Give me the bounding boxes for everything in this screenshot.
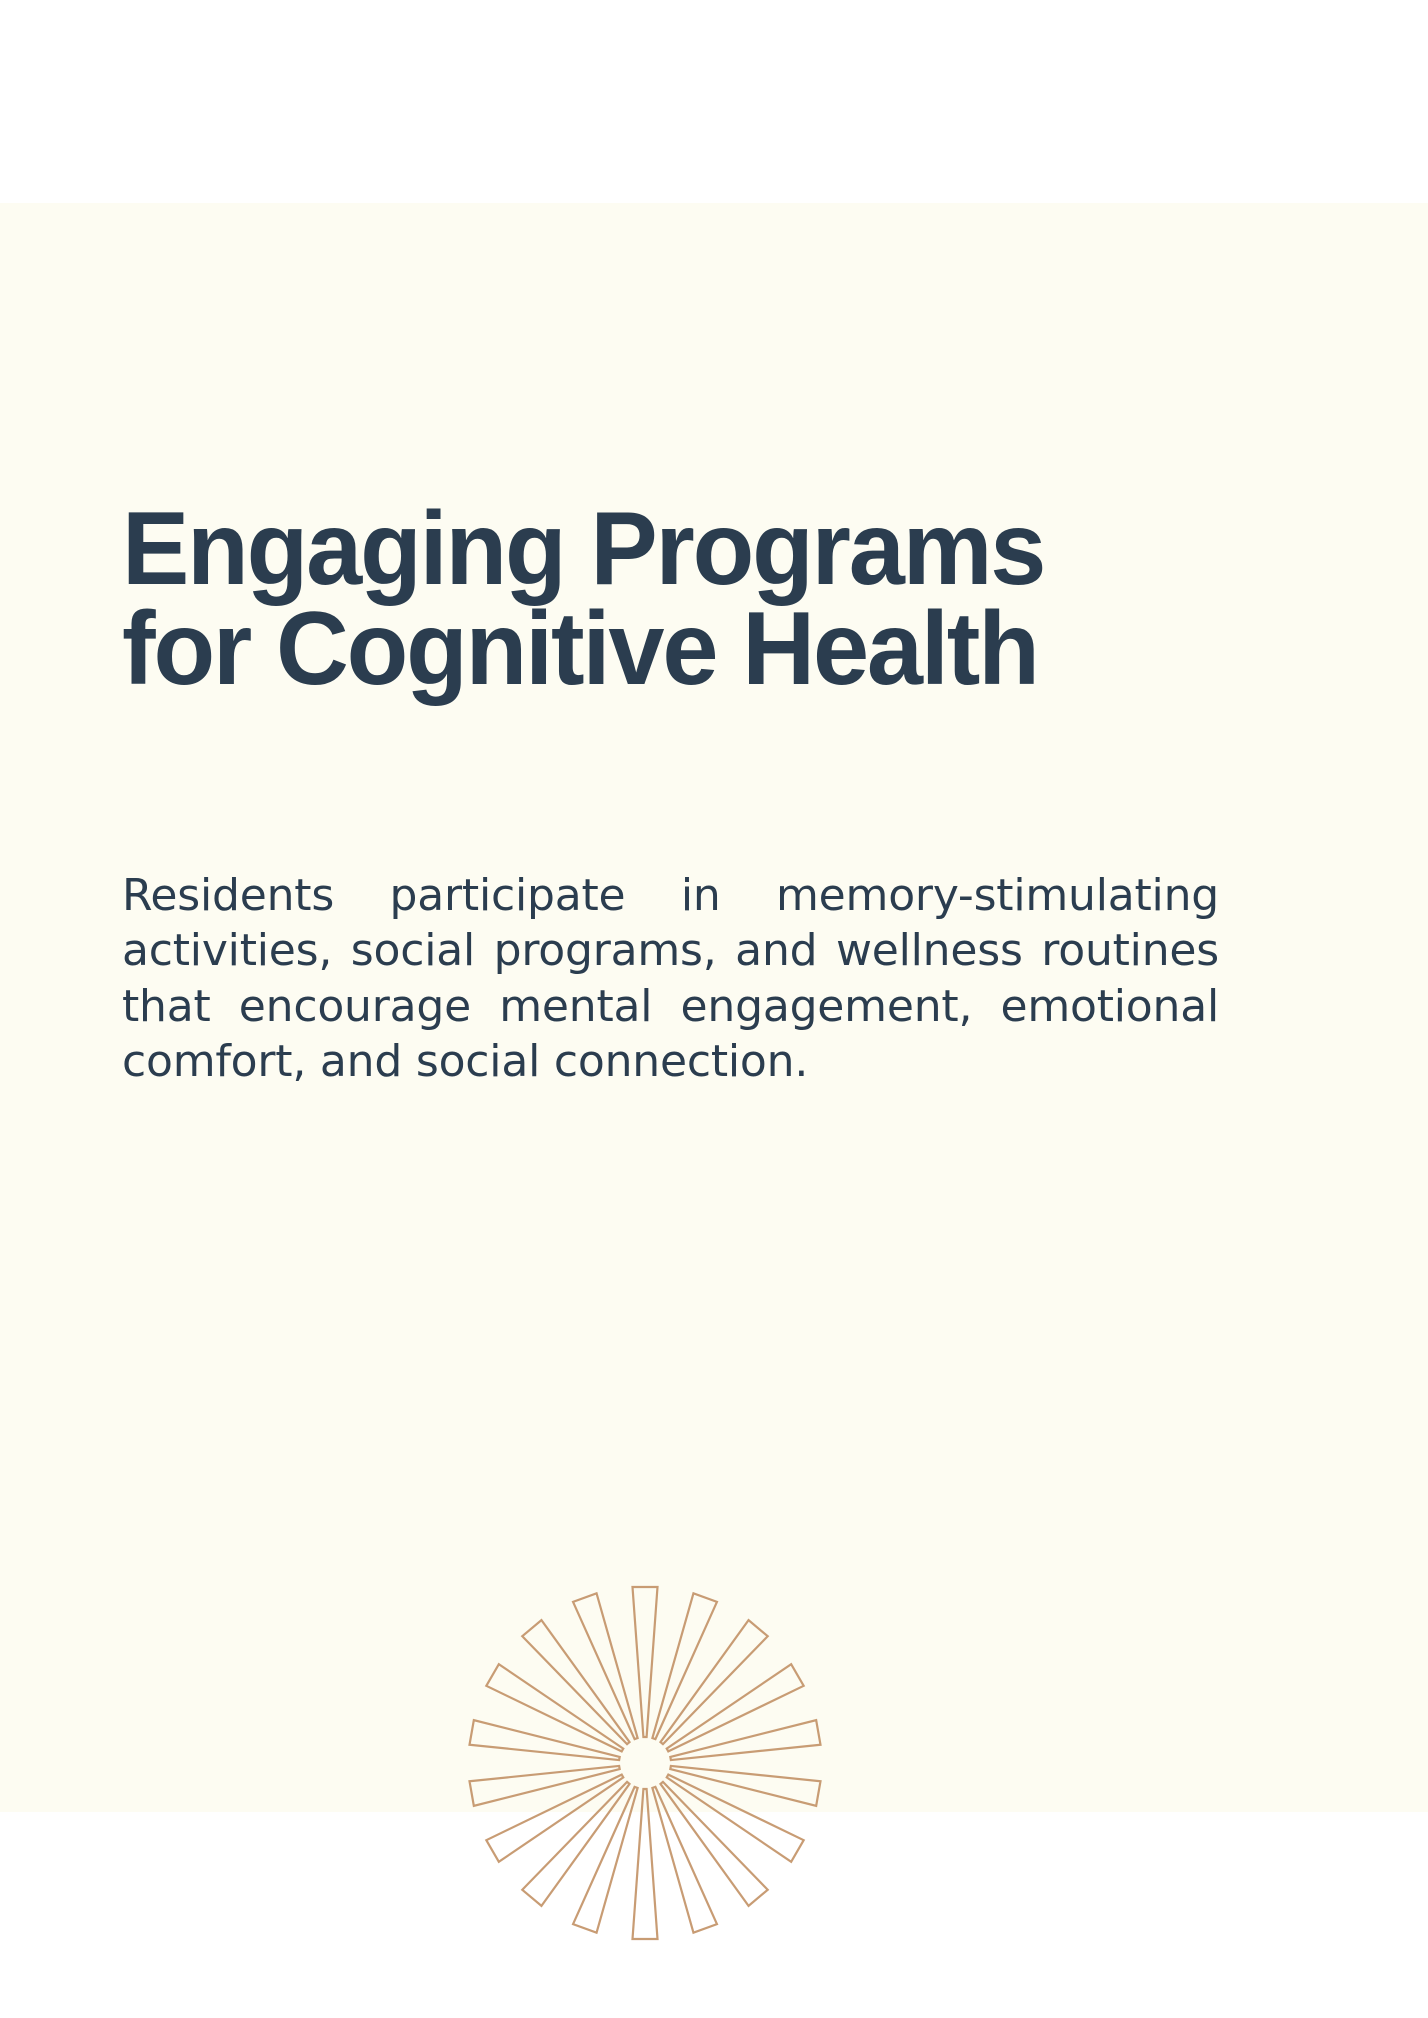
starburst-ray — [652, 1787, 717, 1933]
starburst-ray — [652, 1593, 717, 1739]
starburst-ray — [522, 1782, 629, 1906]
starburst-ornament — [465, 1585, 825, 1941]
starburst-ray — [633, 1587, 658, 1737]
starburst-ray — [486, 1664, 623, 1751]
poster-page: Engaging Programs for Cognitive Health R… — [0, 0, 1428, 2018]
starburst-ray — [573, 1787, 638, 1933]
starburst-ray — [667, 1664, 804, 1751]
starburst-ray — [633, 1789, 658, 1939]
page-title: Engaging Programs for Cognitive Health — [122, 500, 1218, 700]
starburst-ray — [660, 1782, 767, 1906]
starburst-icon — [465, 1585, 825, 1941]
body-paragraph: Residents participate in memory-stimulat… — [122, 868, 1219, 1090]
starburst-ray — [573, 1593, 638, 1739]
starburst-ray — [522, 1620, 629, 1744]
starburst-ray — [667, 1775, 804, 1862]
starburst-ray — [486, 1775, 623, 1862]
content-card: Engaging Programs for Cognitive Health R… — [0, 203, 1428, 1812]
starburst-ray — [660, 1620, 767, 1744]
